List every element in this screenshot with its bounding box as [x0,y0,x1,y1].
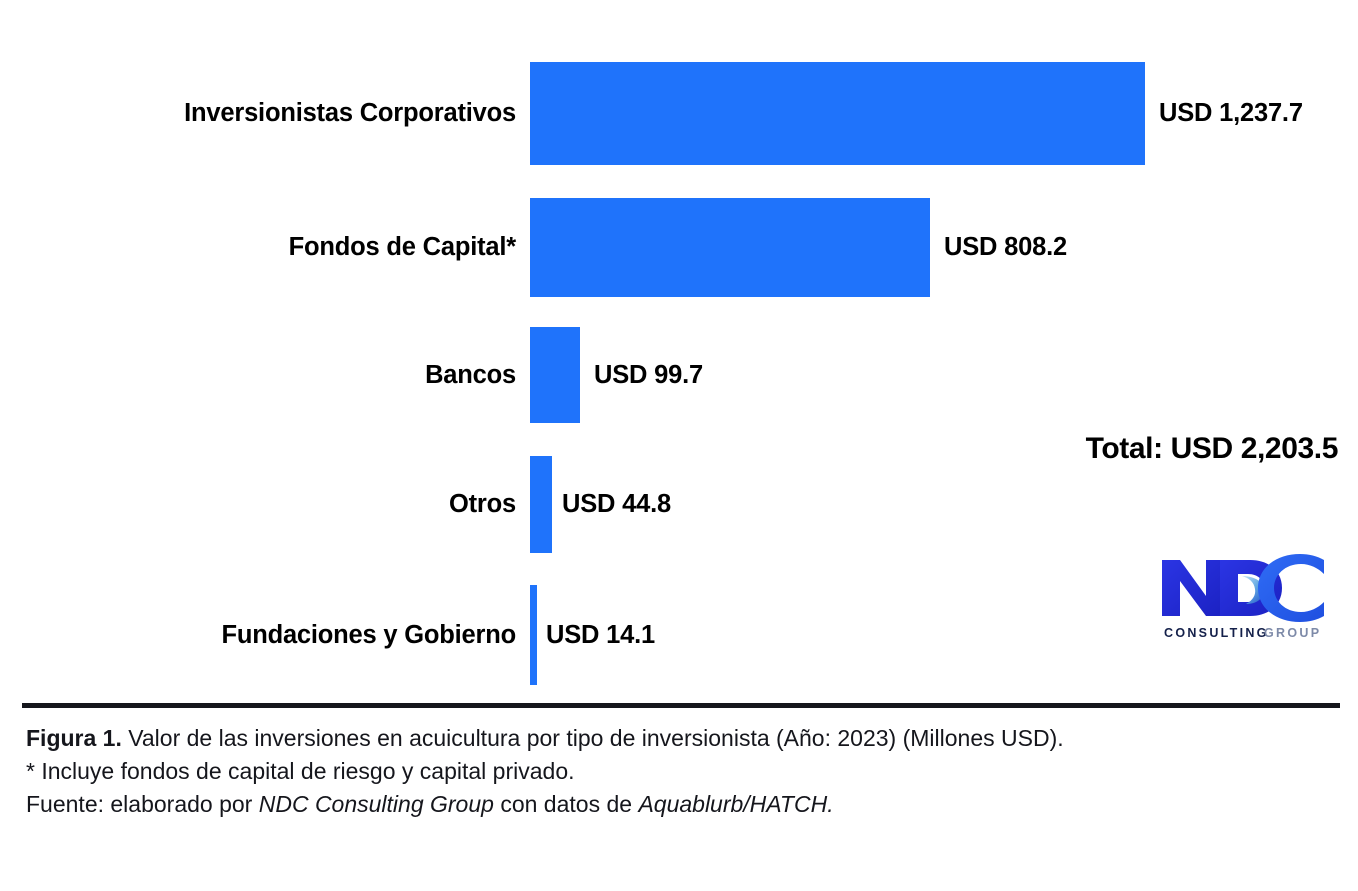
bar-group: USD 808.2 [530,198,1067,297]
logo-tagline-consulting: CONSULTING [1164,626,1269,640]
bar-group: USD 14.1 [530,585,655,685]
ndc-consulting-group-logo: CONSULTING GROUP [1158,552,1330,644]
bar-otros [530,456,552,553]
caption-line-1-text: Valor de las inversiones en acuicultura … [122,725,1064,751]
caption-line-1: Figura 1. Valor de las inversiones en ac… [26,722,1346,755]
bar-category-label: Inversionistas Corporativos [0,62,516,165]
bar-inversionistas-corporativos [530,62,1145,165]
caption-source-dataset: Aquablurb/HATCH. [638,791,833,817]
logo-letter-n [1162,560,1224,616]
bar-row: Fondos de Capital* USD 808.2 [0,198,1358,297]
bar-group: USD 99.7 [530,327,703,423]
bar-fundaciones-y-gobierno [530,585,537,685]
bar-group: USD 1,237.7 [530,62,1303,165]
caption-line-2: * Incluye fondos de capital de riesgo y … [26,755,1346,788]
bar-value-label: USD 44.8 [562,490,671,519]
bar-bancos [530,327,580,423]
bar-value-label: USD 1,237.7 [1159,99,1303,128]
bar-category-label: Fondos de Capital* [0,198,516,297]
caption-source-org: NDC Consulting Group [259,791,494,817]
bar-category-label: Otros [0,456,516,553]
ndc-logo-icon: CONSULTING GROUP [1158,552,1330,644]
caption-divider-rule [22,703,1340,708]
bar-value-label: USD 99.7 [594,361,703,390]
bar-row: Bancos USD 99.7 [0,327,1358,423]
bar-row: Otros USD 44.8 [0,456,1358,553]
total-label: Total: USD 2,203.5 [1086,432,1338,466]
caption-figure-number: Figura 1. [26,725,122,751]
logo-tagline-group: GROUP [1264,626,1321,640]
bar-value-label: USD 808.2 [944,233,1067,262]
caption-source-mid: con datos de [494,791,639,817]
bar-value-label: USD 14.1 [546,621,655,650]
bar-category-label: Fundaciones y Gobierno [0,585,516,685]
bar-row: Fundaciones y Gobierno USD 14.1 [0,585,1358,685]
caption-line-3: Fuente: elaborado por NDC Consulting Gro… [26,788,1346,821]
bar-chart: Inversionistas Corporativos USD 1,237.7 … [0,0,1358,700]
caption-source-prefix: Fuente: elaborado por [26,791,259,817]
bar-category-label: Bancos [0,327,516,423]
bar-row: Inversionistas Corporativos USD 1,237.7 [0,62,1358,165]
figure-caption: Figura 1. Valor de las inversiones en ac… [26,722,1346,821]
bar-group: USD 44.8 [530,456,671,553]
bar-fondos-de-capital [530,198,930,297]
